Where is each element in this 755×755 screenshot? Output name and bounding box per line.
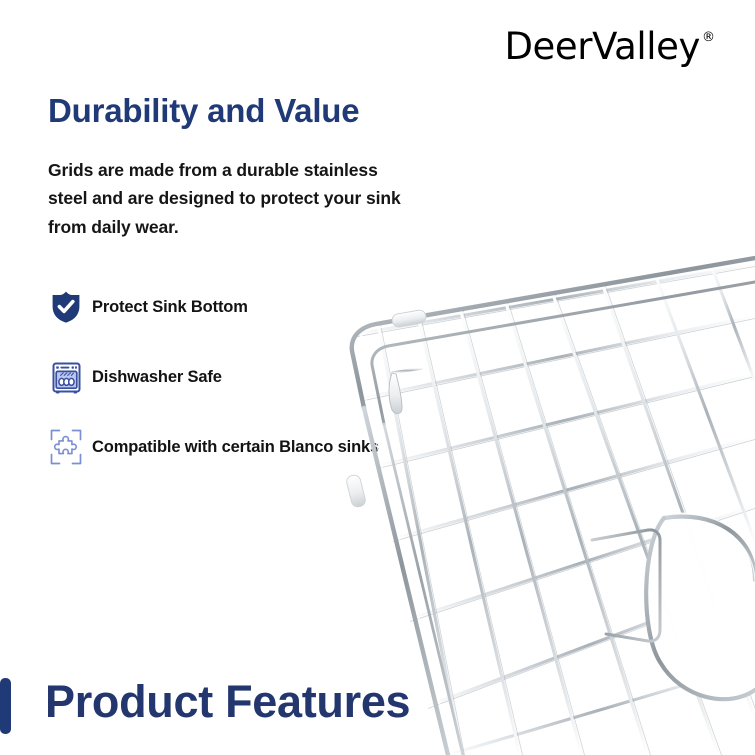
feature-label: Dishwasher Safe	[92, 368, 222, 387]
brand-wordmark: DeerValley	[504, 28, 700, 65]
accent-bar	[0, 678, 11, 734]
section-headline: Durability and Value	[48, 92, 359, 130]
dishwasher-icon	[45, 356, 87, 398]
shield-check-icon	[45, 286, 87, 328]
brand-logo: DeerValley ®	[504, 28, 715, 65]
footer-heading: Product Features	[45, 676, 410, 728]
marketing-slide: DeerValley ® Durability and Value Grids …	[0, 0, 755, 755]
feature-label: Protect Sink Bottom	[92, 298, 248, 317]
puzzle-compatibility-icon	[45, 426, 87, 468]
registered-trademark-icon: ®	[702, 31, 715, 44]
body-copy: Grids are made from a durable stainless …	[48, 156, 408, 241]
